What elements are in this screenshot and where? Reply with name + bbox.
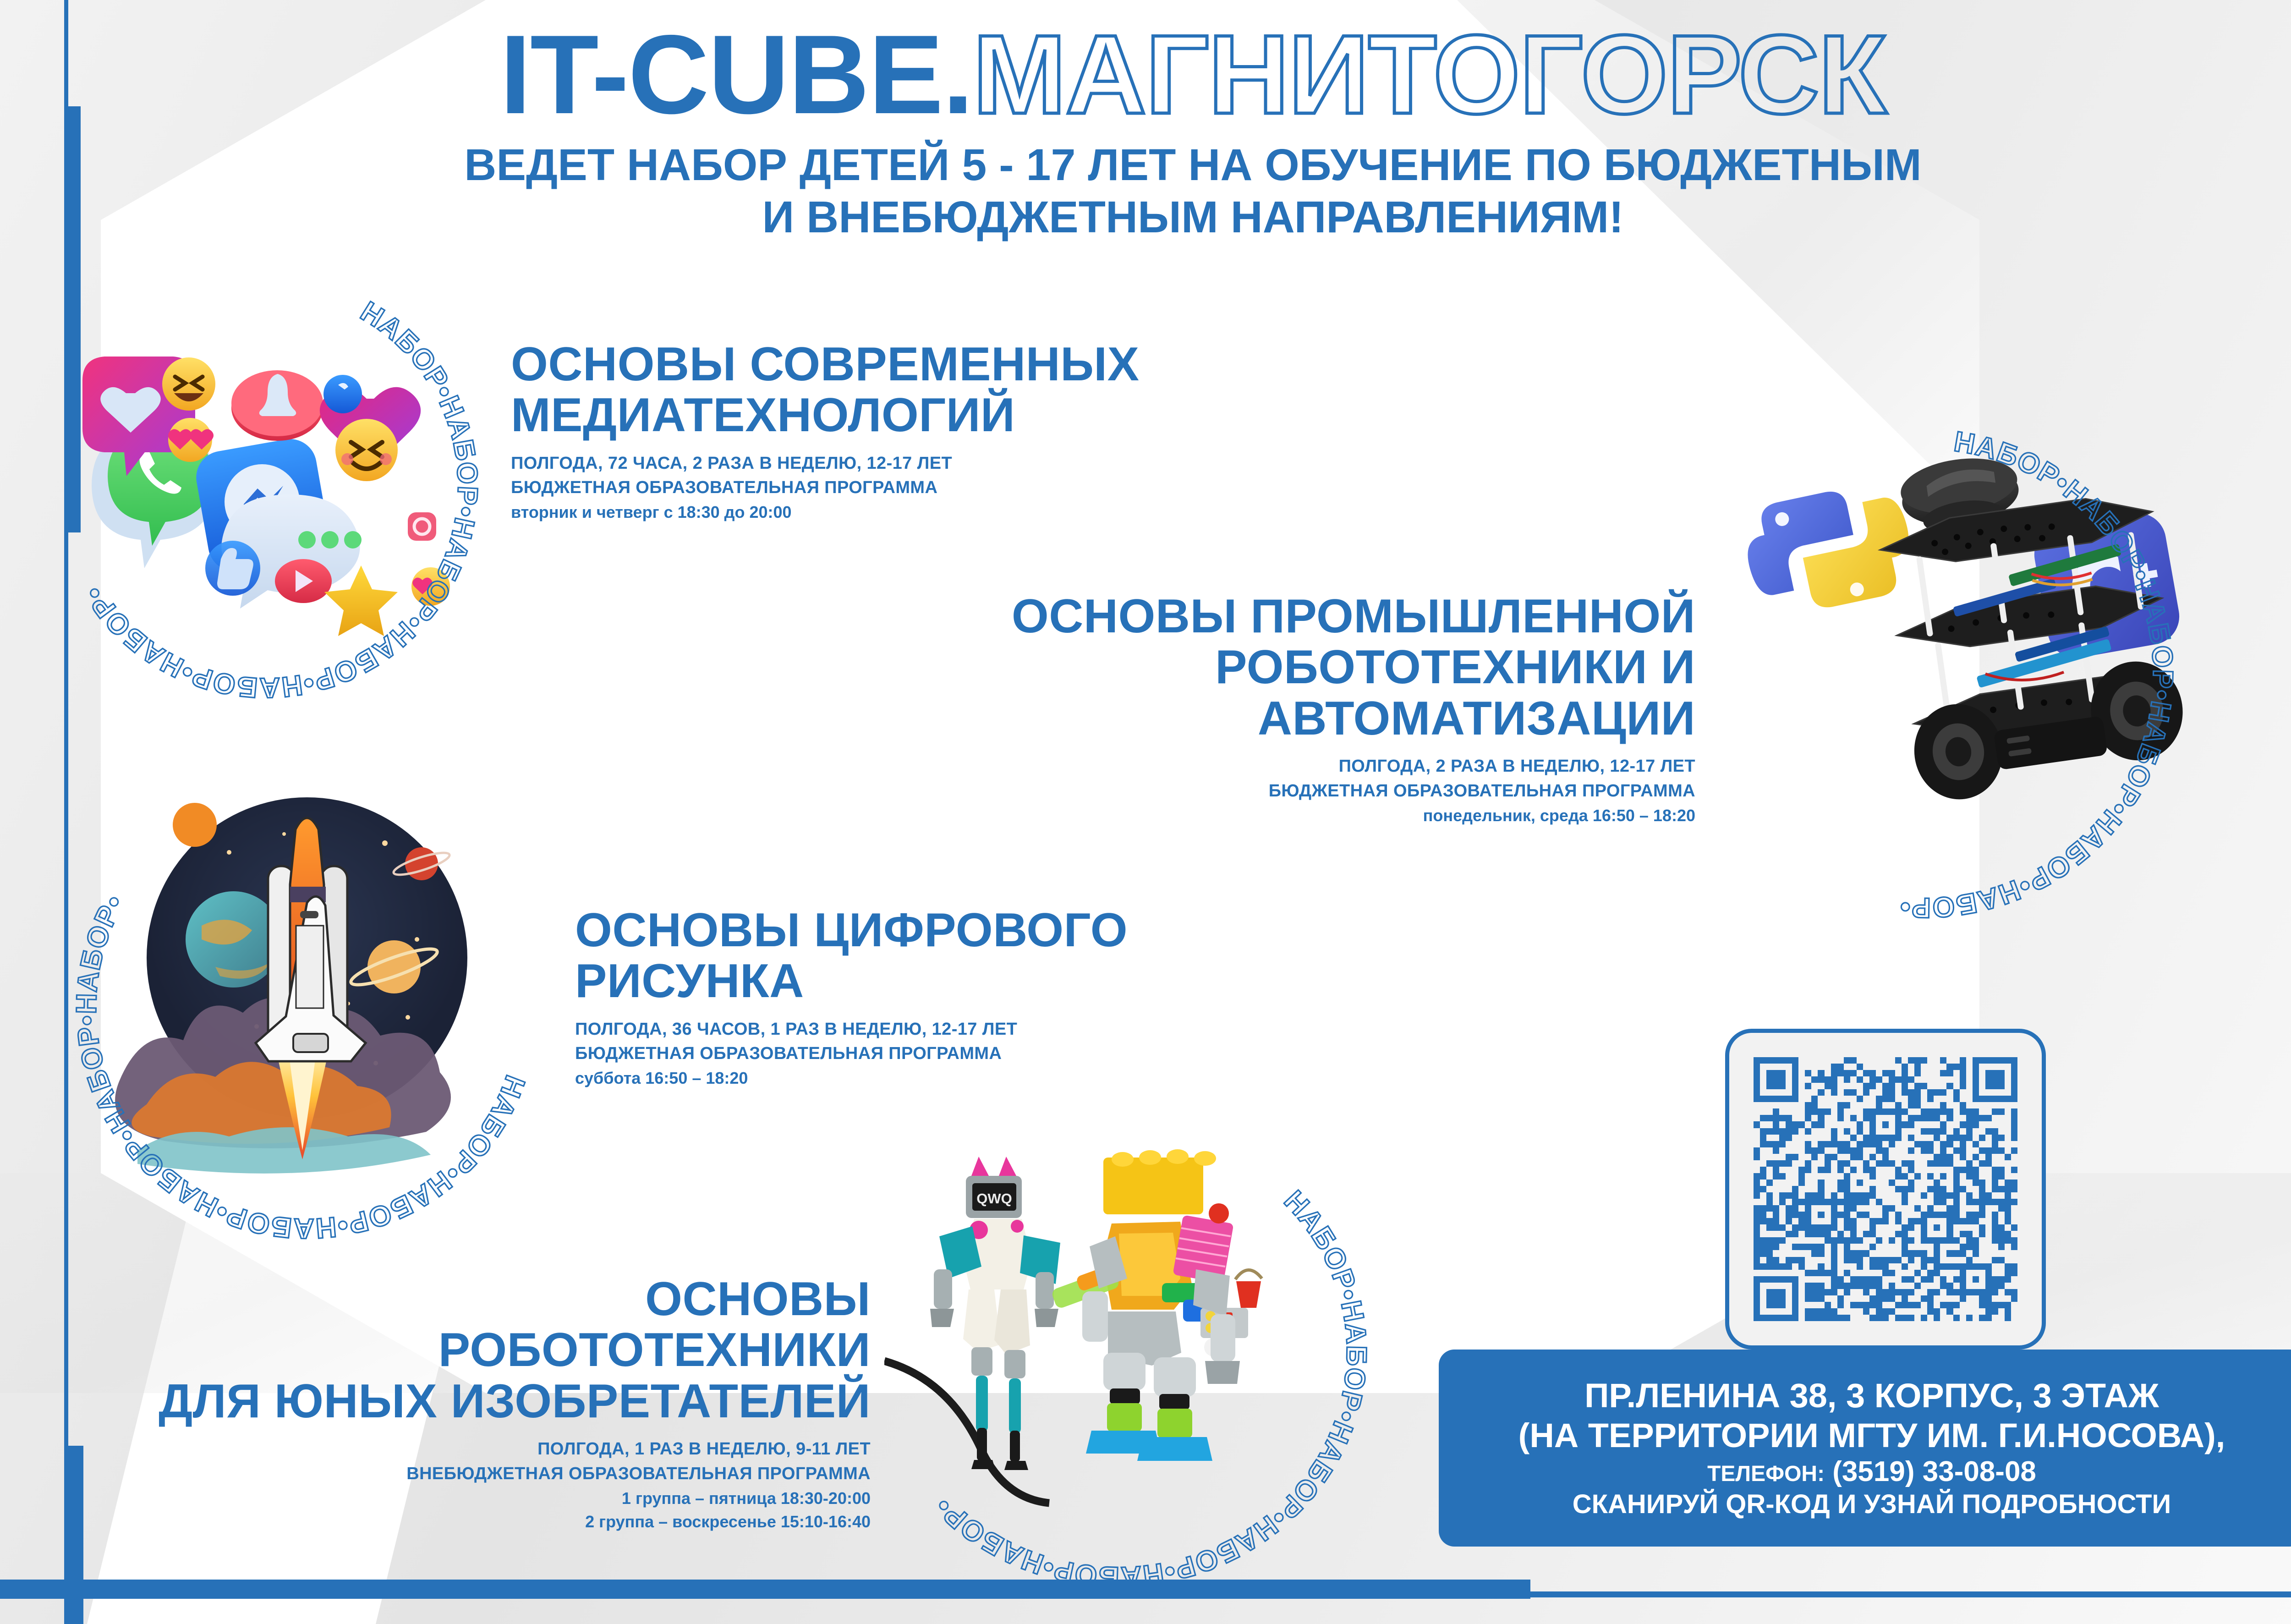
orange-planet [173,803,217,847]
lego-mech-white: QWQ [930,1157,1060,1470]
contact-qr-cta: СКАНИРУЙ QR-КОД И УЗНАЙ ПОДРОБНОСТИ [1573,1489,2171,1520]
course-card-young-inventors: ОСНОВЫ РОБОТОТЕХНИКИ ДЛЯ ЮНЫХ ИЗОБРЕТАТЕ… [128,1274,871,1533]
course-program: БЮДЖЕТНАЯ ОБРАЗОВАТЕЛЬНАЯ ПРОГРАММА [575,1042,1290,1066]
emoji-hearts-icon-2 [411,567,450,606]
course-schedule: вторник и четверг с 18:30 до 20:00 [511,500,1244,524]
course-card-digital-drawing: ОСНОВЫ ЦИФРОВОГО РИСУНКА ПОЛГОДА, 36 ЧАС… [575,905,1290,1090]
social-media-icons-illustration [64,293,458,669]
notification-bell-icon [231,370,323,441]
course-schedule: понедельник, среда 16:50 – 18:20 [788,804,1695,827]
course-schedule: суббота 16:50 – 18:20 [575,1066,1290,1090]
course-schedule-group1: 1 группа – пятница 18:30-20:00 [128,1487,871,1510]
course-duration: ПОЛГОДА, 72 ЧАСА, 2 РАЗА В НЕДЕЛЮ, 12-17… [511,451,1244,476]
brand-name-solid: IT-CUBE. [500,11,973,137]
contact-address-line2: (НА ТЕРРИТОРИИ МГТУ ИМ. Г.И.НОСОВА), [1518,1416,2225,1456]
course-title-line: АВТОМАТИЗАЦИИ [788,693,1695,744]
course-card-industrial-robotics: ОСНОВЫ ПРОМЫШЛЕННОЙ РОБОТОТЕХНИКИ И АВТО… [788,591,1695,827]
qr-code[interactable] [1754,1057,2017,1321]
course-title-digital-drawing: ОСНОВЫ ЦИФРОВОГО РИСУНКА [575,905,1290,1007]
instagram-icon [408,512,436,541]
emoji-laughing-icon [162,357,215,411]
brand-title: IT-CUBE.МАГНИТОГОРСК [0,18,2291,131]
course-title-line: РОБОТОТЕХНИКИ [128,1325,871,1376]
contact-info-box: ПР.ЛЕНИНА 38, 3 КОРПУС, 3 ЭТАЖ (НА ТЕРРИ… [1439,1350,2291,1547]
course-duration: ПОЛГОДА, 1 РАЗ В НЕДЕЛЮ, 9-11 ЛЕТ [128,1437,871,1462]
lego-cable [884,1361,1049,1503]
course-title-line: ОСНОВЫ [128,1274,871,1325]
course-title-line: МЕДИАТЕХНОЛОГИЙ [511,390,1244,441]
play-button-icon [275,559,332,603]
space-shuttle-illustration [92,788,532,1228]
bottom-accent-line [0,1591,2291,1597]
course-program: БЮДЖЕТНАЯ ОБРАЗОВАТЕЛЬНАЯ ПРОГРАММА [511,476,1244,500]
course-schedule-group2: 2 группа – воскресенье 15:10-16:40 [128,1510,871,1533]
course-card-media: ОСНОВЫ СОВРЕМЕННЫХ МЕДИАТЕХНОЛОГИЙ ПОЛГО… [511,339,1244,524]
lego-screen-label: QWQ [976,1191,1012,1207]
header-subtitle: ВЕДЕТ НАБОР ДЕТЕЙ 5 - 17 ЛЕТ НА ОБУЧЕНИЕ… [0,139,2291,244]
course-duration: ПОЛГОДА, 36 ЧАСОВ, 1 РАЗ В НЕДЕЛЮ, 12-17… [575,1017,1290,1042]
lego-robots-illustration: QWQ [884,1132,1343,1572]
course-title-line: ОСНОВЫ ЦИФРОВОГО [575,905,1290,956]
course-duration: ПОЛГОДА, 2 РАЗА В НЕДЕЛЮ, 12-17 ЛЕТ [788,754,1695,779]
course-title-young-inventors: ОСНОВЫ РОБОТОТЕХНИКИ ДЛЯ ЮНЫХ ИЗОБРЕТАТЕ… [128,1274,871,1427]
emoji-blush-icon [335,419,398,481]
blue-dot-icon [323,375,362,413]
contact-phone-label: ТЕЛЕФОН: [1707,1462,1825,1486]
contact-phone: ТЕЛЕФОН: (3519) 33-08-08 [1707,1455,2036,1489]
course-meta-industrial-robotics: ПОЛГОДА, 2 РАЗА В НЕДЕЛЮ, 12-17 ЛЕТ БЮДЖ… [788,754,1695,827]
industrial-robot-illustration [1709,449,2195,875]
course-title-line: ДЛЯ ЮНЫХ ИЗОБРЕТАТЕЛЕЙ [128,1376,871,1427]
lego-mech-yellow [1051,1149,1262,1461]
like-thumb-icon [205,541,260,596]
brand-name-outline: МАГНИТОГОРСК [973,11,1886,137]
contact-address-line1: ПР.ЛЕНИНА 38, 3 КОРПУС, 3 ЭТАЖ [1584,1376,2159,1416]
course-title-line: ОСНОВЫ ПРОМЫШЛЕННОЙ [788,591,1695,642]
header-subtitle-line1: ВЕДЕТ НАБОР ДЕТЕЙ 5 - 17 ЛЕТ НА ОБУЧЕНИЕ… [0,139,2291,191]
course-title-line: РИСУНКА [575,956,1290,1007]
course-title-line: РОБОТОТЕХНИКИ И [788,642,1695,693]
course-program: ВНЕБЮДЖЕТНАЯ ОБРАЗОВАТЕЛЬНАЯ ПРОГРАММА [128,1462,871,1487]
contact-phone-number: (3519) 33-08-08 [1832,1456,2036,1487]
header-subtitle-line2: И ВНЕБЮДЖЕТНЫМ НАПРАВЛЕНИЯМ! [0,191,2291,243]
qr-code-card[interactable] [1725,1029,2046,1350]
course-meta-digital-drawing: ПОЛГОДА, 36 ЧАСОВ, 1 РАЗ В НЕДЕЛЮ, 12-17… [575,1017,1290,1090]
course-title-media: ОСНОВЫ СОВРЕМЕННЫХ МЕДИАТЕХНОЛОГИЙ [511,339,1244,441]
poster-header: IT-CUBE.МАГНИТОГОРСК ВЕДЕТ НАБОР ДЕТЕЙ 5… [0,18,2291,244]
course-title-industrial-robotics: ОСНОВЫ ПРОМЫШЛЕННОЙ РОБОТОТЕХНИКИ И АВТО… [788,591,1695,744]
course-meta-young-inventors: ПОЛГОДА, 1 РАЗ В НЕДЕЛЮ, 9-11 ЛЕТ ВНЕБЮД… [128,1437,871,1533]
course-title-line: ОСНОВЫ СОВРЕМЕННЫХ [511,339,1244,390]
course-meta-media: ПОЛГОДА, 72 ЧАСА, 2 РАЗА В НЕДЕЛЮ, 12-17… [511,451,1244,524]
course-program: БЮДЖЕТНАЯ ОБРАЗОВАТЕЛЬНАЯ ПРОГРАММА [788,779,1695,804]
